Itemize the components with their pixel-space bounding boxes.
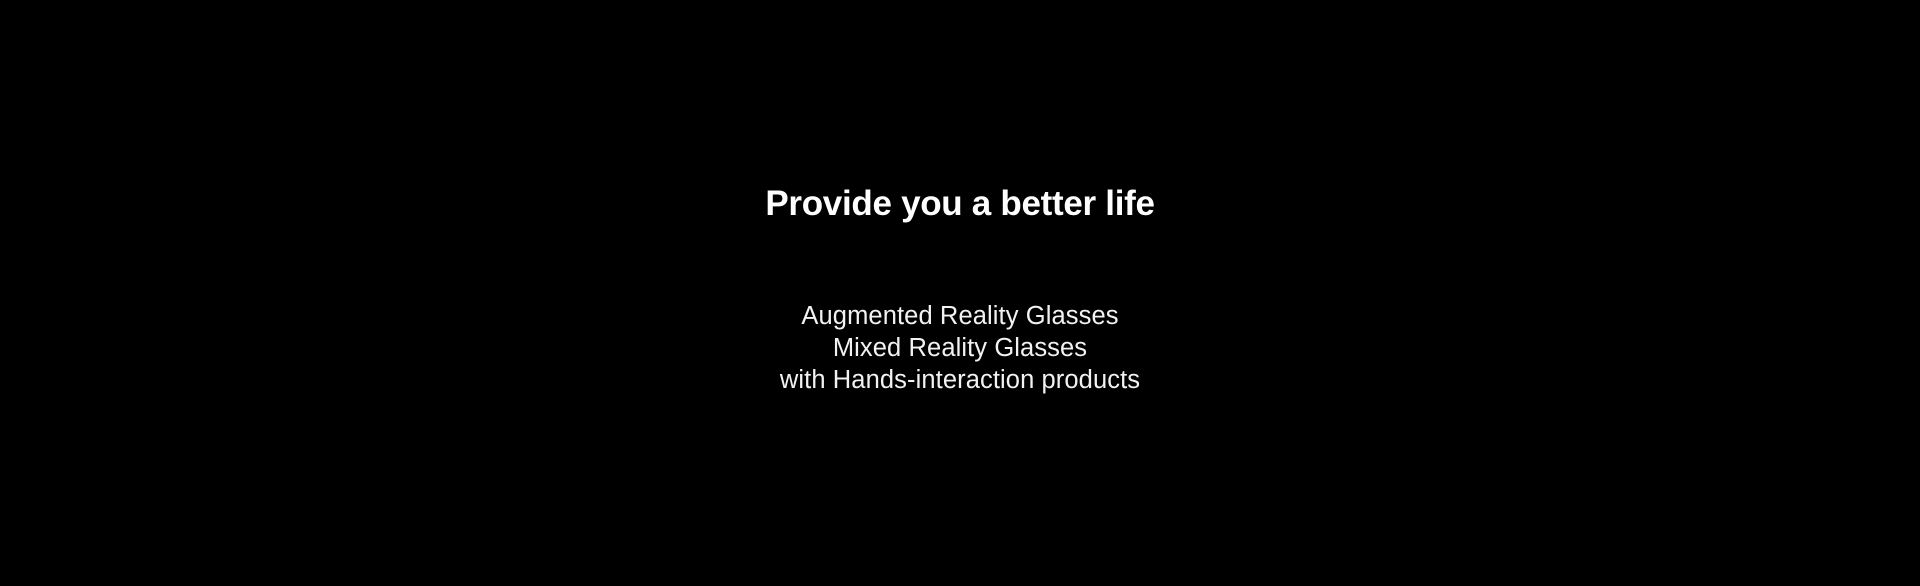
page-title: Provide you a better life [0, 182, 1920, 226]
hero-subtitle-block: Augmented Reality Glasses Mixed Reality … [0, 300, 1920, 396]
hero-section: Provide you a better life Augmented Real… [0, 0, 1920, 586]
hero-subtitle-line: Augmented Reality Glasses [0, 300, 1920, 332]
hero-subtitle-line: Mixed Reality Glasses [0, 332, 1920, 364]
hero-subtitle-line: with Hands-interaction products [0, 364, 1920, 396]
